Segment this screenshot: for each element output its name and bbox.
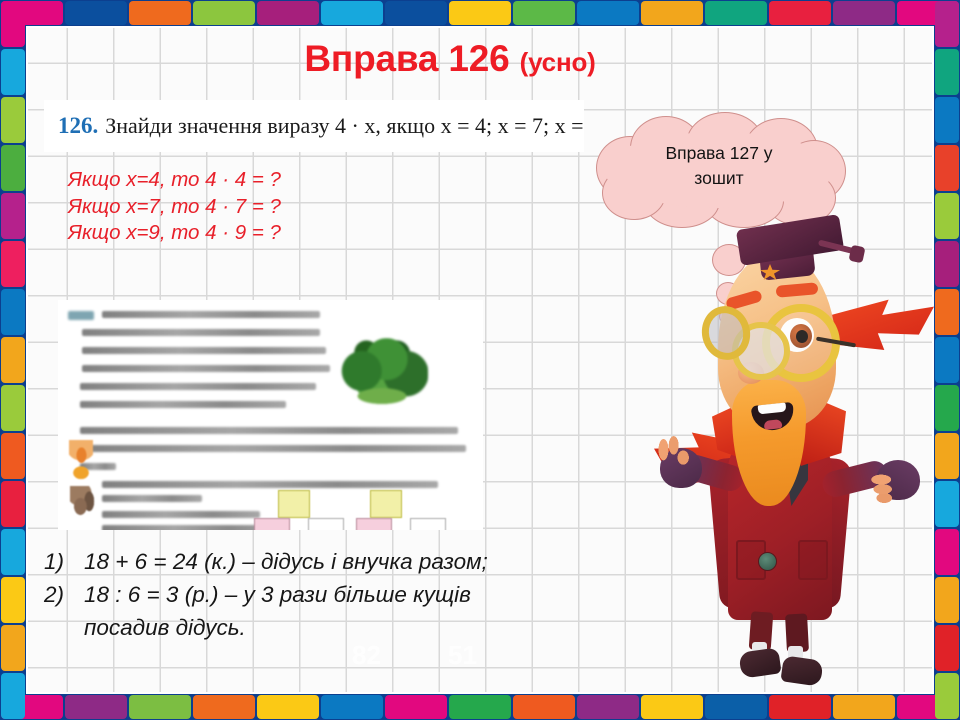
answer-row-2: 2) 18 : 6 = 3 (р.) – у 3 рази більше кущ… [44, 578, 488, 611]
collar-wing-right [826, 294, 934, 364]
textbook-snippet-127 [58, 300, 483, 530]
scheme-white-box-2 [410, 518, 446, 530]
page-title-sub: (усно) [520, 47, 596, 77]
thought-bubble: Вправа 127 у зошит [586, 112, 852, 227]
page-title-main: Вправа 126 [304, 38, 509, 79]
scheme-yellow-box-1 [278, 490, 310, 518]
slide-canvas: Вправа 126 (усно) 126. Знайди значення в… [0, 0, 960, 720]
hand-left [656, 436, 690, 472]
watermark-51: 51 [448, 640, 477, 671]
answer-marker-2: 2) [44, 578, 84, 611]
graduation-cap-board [736, 214, 844, 266]
bush-icon [336, 338, 428, 404]
squirrel-icon [70, 486, 96, 520]
solution-line-2: Якщо x=7, то 4 · 7 = ? [68, 194, 281, 221]
coat-button [758, 552, 777, 571]
graduation-cap-knob [848, 245, 865, 264]
hand-right [866, 470, 904, 510]
thought-bubble-line-2: зошит [604, 166, 834, 191]
scheme-pink-box-2 [356, 518, 392, 530]
tongue [764, 419, 783, 430]
fox-icon [69, 440, 93, 480]
solution-line-1: Якщо x=4, то 4 · 4 = ? [68, 167, 281, 194]
answer-text-1: 18 + 6 = 24 (к.) – дідусь і внучка разом… [84, 545, 488, 578]
snippet-126-number: 126. [58, 113, 98, 139]
textbook-snippet-126: 126. Знайди значення виразу 4 · x, якщо … [44, 100, 584, 152]
answer-marker-1: 1) [44, 545, 84, 578]
scheme-white-box-1 [308, 518, 344, 530]
professor-carrot-mascot [640, 222, 940, 692]
snippet-127-number [68, 311, 94, 320]
coat-pocket-right [798, 540, 828, 580]
watermark-82: 82 [352, 640, 381, 671]
scheme-yellow-box-2 [370, 490, 402, 518]
answer-text-3: посадив дідусь. [44, 611, 488, 644]
page-title: Вправа 126 (усно) [0, 38, 900, 80]
scheme-pink-box-1 [254, 518, 290, 530]
snippet-126-text: Знайди значення виразу 4 · x, якщо x = 4… [105, 113, 584, 139]
solution-lines: Якщо x=4, то 4 · 4 = ? Якщо x=7, то 4 · … [68, 167, 281, 247]
thought-bubble-text: Вправа 127 у зошит [604, 141, 834, 191]
boot-right [780, 655, 823, 686]
solution-line-3: Якщо x=9, то 4 · 9 = ? [68, 220, 281, 247]
boot-left [738, 647, 781, 678]
answer-list: 1) 18 + 6 = 24 (к.) – дідусь і внучка ра… [44, 545, 488, 644]
thought-bubble-line-1: Вправа 127 у [604, 141, 834, 166]
answer-row-1: 1) 18 + 6 = 24 (к.) – дідусь і внучка ра… [44, 545, 488, 578]
answer-text-2: 18 : 6 = 3 (р.) – у 3 рази більше кущів [84, 578, 471, 611]
